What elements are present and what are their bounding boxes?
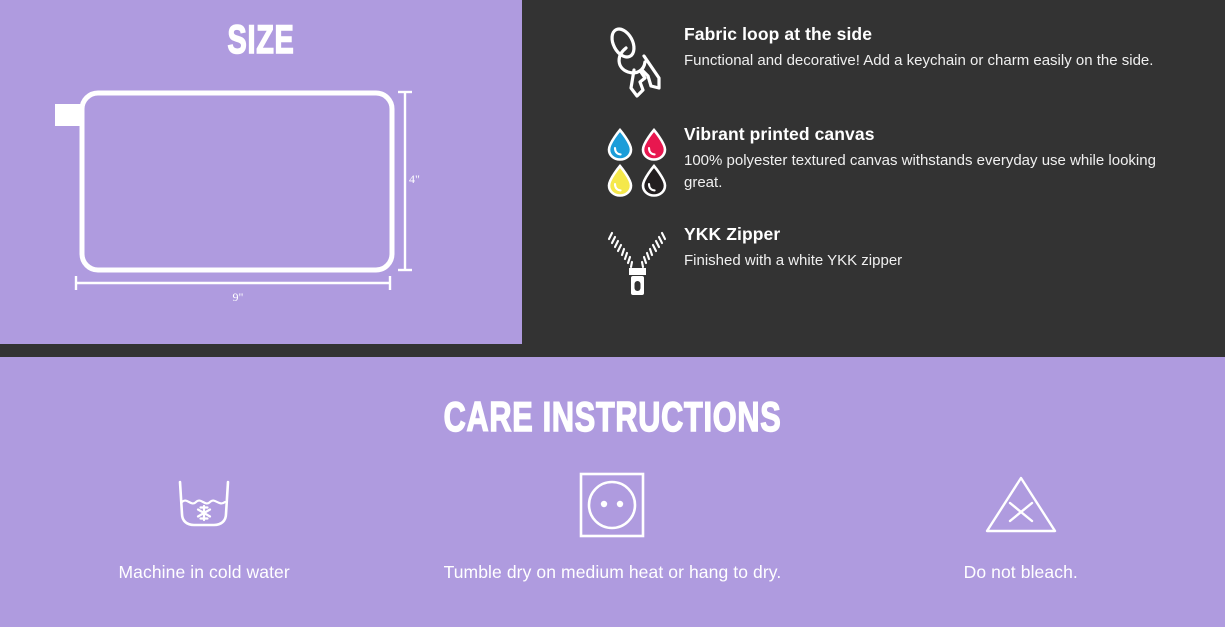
keychain-loop-icon	[598, 22, 676, 102]
care-item: Machine in cold water	[0, 462, 408, 583]
key-black-droplet-icon	[639, 164, 669, 197]
product-infographic: SIZE 4" 9"	[0, 0, 1225, 627]
features-list: Fabric loop at the side Functional and d…	[522, 0, 1225, 344]
care-items: Machine in cold water Tumble dry on medi…	[0, 462, 1225, 583]
wash-cold-tub-icon	[166, 462, 242, 548]
zipper-icon	[598, 222, 676, 302]
feature-text: Vibrant printed canvas 100% polyester te…	[676, 122, 1184, 194]
fabric-loop-tab-icon	[56, 105, 83, 125]
height-dimension-label: 4"	[409, 172, 420, 187]
care-label: Machine in cold water	[118, 562, 289, 583]
feature-item: Vibrant printed canvas 100% polyester te…	[598, 122, 1199, 202]
feature-description: Functional and decorative! Add a keychai…	[684, 50, 1153, 72]
do-not-bleach-icon	[983, 462, 1059, 548]
care-item: Do not bleach.	[817, 462, 1225, 583]
care-instructions-section: CARE INSTRUCTIONS	[0, 357, 1225, 627]
care-label: Do not bleach.	[964, 562, 1078, 583]
magenta-droplet-icon	[639, 128, 669, 161]
top-row: SIZE 4" 9"	[0, 0, 1225, 344]
cmyk-droplets-icon	[598, 122, 676, 202]
feature-description: Finished with a white YKK zipper	[684, 250, 902, 272]
size-panel: SIZE 4" 9"	[0, 0, 522, 344]
feature-title: Fabric loop at the side	[684, 24, 1153, 46]
care-label: Tumble dry on medium heat or hang to dry…	[444, 562, 782, 583]
feature-text: Fabric loop at the side Functional and d…	[676, 22, 1153, 72]
feature-item: YKK Zipper Finished with a white YKK zip…	[598, 222, 1199, 302]
width-dimension-label: 9"	[0, 290, 476, 305]
feature-text: YKK Zipper Finished with a white YKK zip…	[676, 222, 902, 272]
pouch-outline	[82, 93, 392, 270]
feature-title: Vibrant printed canvas	[684, 124, 1184, 146]
tumble-dry-medium-icon	[577, 462, 647, 548]
width-dimension-line	[76, 276, 390, 290]
droplet-grid	[605, 126, 669, 197]
care-heading: CARE INSTRUCTIONS	[165, 393, 1059, 441]
feature-title: YKK Zipper	[684, 224, 902, 246]
feature-description: 100% polyester textured canvas withstand…	[684, 150, 1184, 194]
yellow-droplet-icon	[605, 164, 635, 197]
feature-item: Fabric loop at the side Functional and d…	[598, 22, 1199, 102]
care-item: Tumble dry on medium heat or hang to dry…	[408, 462, 816, 583]
cyan-droplet-icon	[605, 128, 635, 161]
